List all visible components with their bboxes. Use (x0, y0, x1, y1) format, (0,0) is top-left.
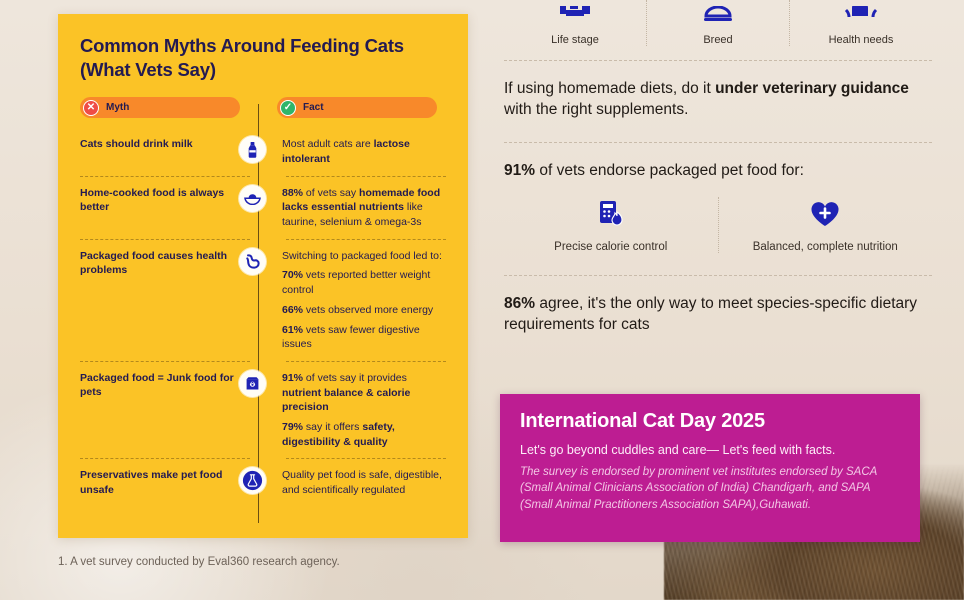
myth-text: Preservatives make pet food unsafe (80, 459, 250, 506)
row-icon-slot (250, 177, 266, 239)
milk-bottle-icon (239, 136, 266, 163)
check-circle-icon: ✓ (280, 100, 296, 116)
myth-pill: ✕ Myth (80, 97, 240, 118)
fact-stat-line: 66% vets observed more energy (282, 303, 446, 318)
divider-2 (504, 142, 932, 143)
fact-text: Switching to packaged food led to: 70% v… (266, 240, 446, 361)
right-column: Life stage Breed Health needs If using h… (504, 0, 932, 335)
benefit-calorie-control: Precise calorie control (504, 197, 718, 253)
benefits-row: Precise calorie control Balanced, comple… (504, 197, 932, 253)
endorse-statement: 91% of vets endorse packaged pet food fo… (504, 160, 932, 181)
calorie-calculator-icon (595, 197, 627, 231)
factor-label: Life stage (551, 34, 599, 46)
fact-stat-line: 79% say it offers safety, digestibility … (282, 420, 446, 449)
factor-health-needs: Health needs (789, 0, 932, 46)
table-row: Cats should drink milk Most adult cats a… (80, 128, 446, 175)
fact-stat-line: 70% vets reported better weight control (282, 268, 446, 297)
x-circle-icon: ✕ (83, 100, 99, 116)
cat-day-endorsement-note: The survey is endorsed by prominent vet … (520, 464, 900, 513)
cat-day-title: International Cat Day 2025 (520, 410, 900, 433)
fact-pill-label: Fact (303, 102, 324, 113)
cat-day-subtitle: Let's go beyond cuddles and care— Let's … (520, 443, 900, 457)
benefit-balanced-nutrition: Balanced, complete nutrition (718, 197, 933, 253)
footnote: 1. A vet survey conducted by Eval360 res… (58, 556, 340, 568)
factor-label: Breed (703, 34, 732, 46)
myth-text: Home-cooked food is always better (80, 177, 250, 239)
species-statement: 86% agree, it's the only way to meet spe… (504, 293, 932, 335)
fact-stat-line: 61% vets saw fewer digestive issues (282, 323, 446, 352)
myth-fact-header-row: ✕ Myth ✓ Fact (80, 97, 446, 118)
fact-text: 88% of vets say homemade food lacks esse… (266, 177, 446, 239)
fact-text: Most adult cats are lactose intolerant (266, 128, 446, 175)
food-bowl-icon (239, 185, 266, 212)
stomach-icon (239, 248, 266, 275)
myth-text: Packaged food = Junk food for pets (80, 362, 250, 458)
heart-plus-icon (810, 197, 840, 231)
divider-3 (504, 275, 932, 276)
fact-text: Quality pet food is safe, digestible, an… (266, 459, 446, 506)
lab-flask-icon (239, 467, 266, 494)
cat-breed-icon (701, 6, 735, 28)
table-row: Packaged food causes health problems Swi… (80, 240, 446, 361)
fact-pill: ✓ Fact (277, 97, 437, 118)
row-icon-slot (250, 128, 266, 175)
myths-card: Common Myths Around Feeding Cats (What V… (58, 14, 468, 538)
myth-fact-rows: Cats should drink milk Most adult cats a… (80, 128, 446, 506)
factor-life-stage: Life stage (504, 0, 646, 46)
fact-text: 91% of vets say it provides nutrient bal… (266, 362, 446, 458)
myths-card-title-line1: Common Myths Around Feeding Cats (80, 35, 404, 56)
fact-lead: 91% of vets say it provides nutrient bal… (282, 371, 446, 415)
pet-food-bag-icon (239, 370, 266, 397)
myth-text: Cats should drink milk (80, 128, 250, 175)
table-row: Preservatives make pet food unsafe Quali… (80, 459, 446, 506)
benefit-label: Balanced, complete nutrition (753, 241, 898, 253)
cat-life-stage-icon (558, 6, 592, 28)
myth-pill-label: Myth (106, 102, 129, 113)
factor-breed: Breed (646, 0, 789, 46)
myth-text: Packaged food causes health problems (80, 240, 250, 361)
factor-label: Health needs (829, 34, 894, 46)
factors-row: Life stage Breed Health needs (504, 0, 932, 46)
homemade-statement: If using homemade diets, do it under vet… (504, 78, 932, 120)
benefit-label: Precise calorie control (554, 241, 667, 253)
row-icon-slot (250, 459, 266, 506)
international-cat-day-box: International Cat Day 2025 Let's go beyo… (500, 394, 920, 542)
myths-card-title-line2: (What Vets Say) (80, 59, 216, 80)
fact-lead: Switching to packaged food led to: (282, 249, 446, 264)
myths-card-title: Common Myths Around Feeding Cats (What V… (80, 34, 446, 81)
table-row: Home-cooked food is always better 88% of… (80, 177, 446, 239)
row-icon-slot (250, 240, 266, 361)
row-icon-slot (250, 362, 266, 458)
divider-1 (504, 60, 932, 61)
table-row: Packaged food = Junk food for pets 91% o… (80, 362, 446, 458)
cat-health-needs-icon (844, 6, 878, 28)
